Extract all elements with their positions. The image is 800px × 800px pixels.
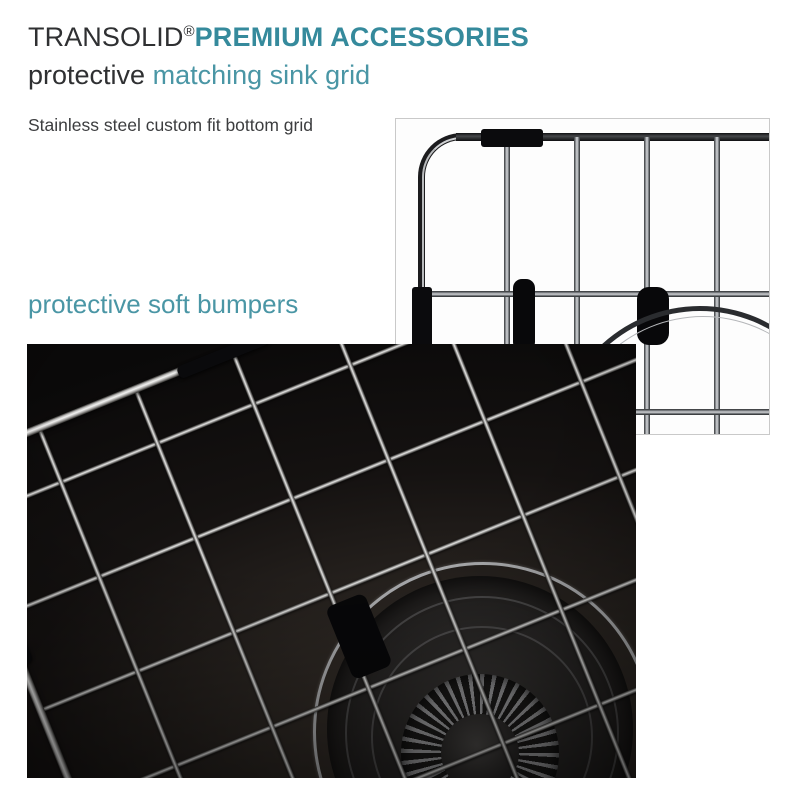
brand-name: TRANSOLID — [28, 22, 183, 52]
grid-horizontal-wire — [420, 291, 769, 297]
sink-grid-lattice — [27, 344, 636, 778]
subtitle-accent-text: matching sink grid — [153, 60, 371, 90]
grid-perimeter-frame — [27, 344, 636, 778]
soft-bumper-vertical-wire — [513, 279, 535, 351]
bumper-feature-caption: protective soft bumpers — [28, 287, 298, 321]
page-title: TRANSOLID®PREMIUM ACCESSORIES — [28, 20, 529, 54]
soft-bumper-side-wire — [412, 287, 432, 347]
sink-grid-installed-photo — [27, 344, 636, 778]
soft-bumper-top-rail — [481, 129, 543, 147]
page-subtitle: protective matching sink grid — [28, 58, 370, 92]
subtitle-dark-text: protective — [28, 60, 145, 90]
registered-trademark-symbol: ® — [183, 23, 194, 40]
product-marketing-image: TRANSOLID®PREMIUM ACCESSORIES protective… — [0, 0, 800, 800]
product-description: Stainless steel custom fit bottom grid — [28, 113, 368, 138]
headline-accent-text: PREMIUM ACCESSORIES — [195, 22, 529, 52]
